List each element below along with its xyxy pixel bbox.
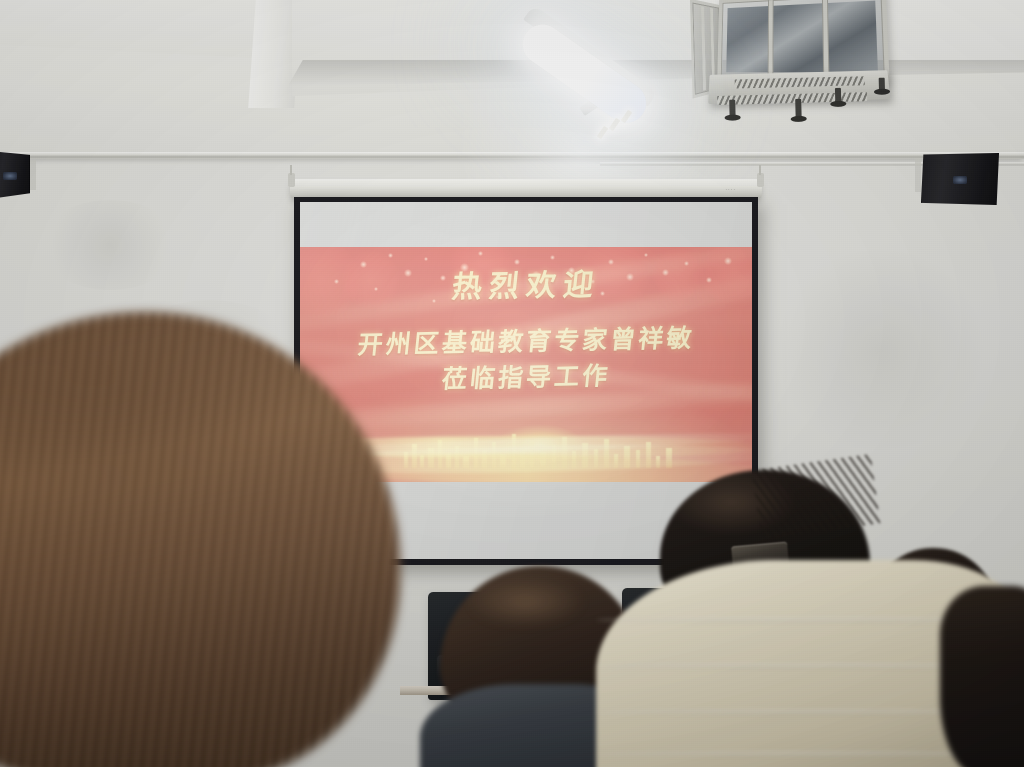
foreground-left-person xyxy=(0,312,400,767)
slide-headline: 热烈欢迎 xyxy=(300,267,752,307)
speaker-logo xyxy=(3,172,17,180)
hair-strands xyxy=(0,312,400,767)
projector-mount-foot xyxy=(795,99,802,119)
wall-speaker-left xyxy=(0,151,30,199)
hair-highlight xyxy=(466,576,586,628)
light-end-cap xyxy=(609,118,621,132)
hair xyxy=(940,586,1024,767)
projector-cage-glass xyxy=(726,1,878,73)
wall-smudge xyxy=(40,200,180,290)
speaker-bracket-left xyxy=(30,160,36,190)
roller-end-bracket xyxy=(288,173,295,187)
speaker-logo xyxy=(953,176,967,184)
ceiling-projector xyxy=(688,0,901,117)
speaker-bracket-right xyxy=(915,158,921,192)
projector-mount-foot xyxy=(729,100,735,118)
screen-roller-housing: ···· xyxy=(290,179,762,199)
far-right-person xyxy=(940,586,1024,767)
projector-mount-foot xyxy=(835,88,841,104)
roller-brand-text: ···· xyxy=(725,187,736,193)
light-end-cap xyxy=(597,126,609,140)
photo-scene: ···· xyxy=(0,0,1024,767)
wall-speaker-right xyxy=(921,153,999,205)
wall-smudge xyxy=(770,250,990,450)
wall-conduit-trim xyxy=(0,152,1024,159)
roller-end-bracket xyxy=(757,173,764,187)
projector-mount-foot xyxy=(879,78,885,92)
